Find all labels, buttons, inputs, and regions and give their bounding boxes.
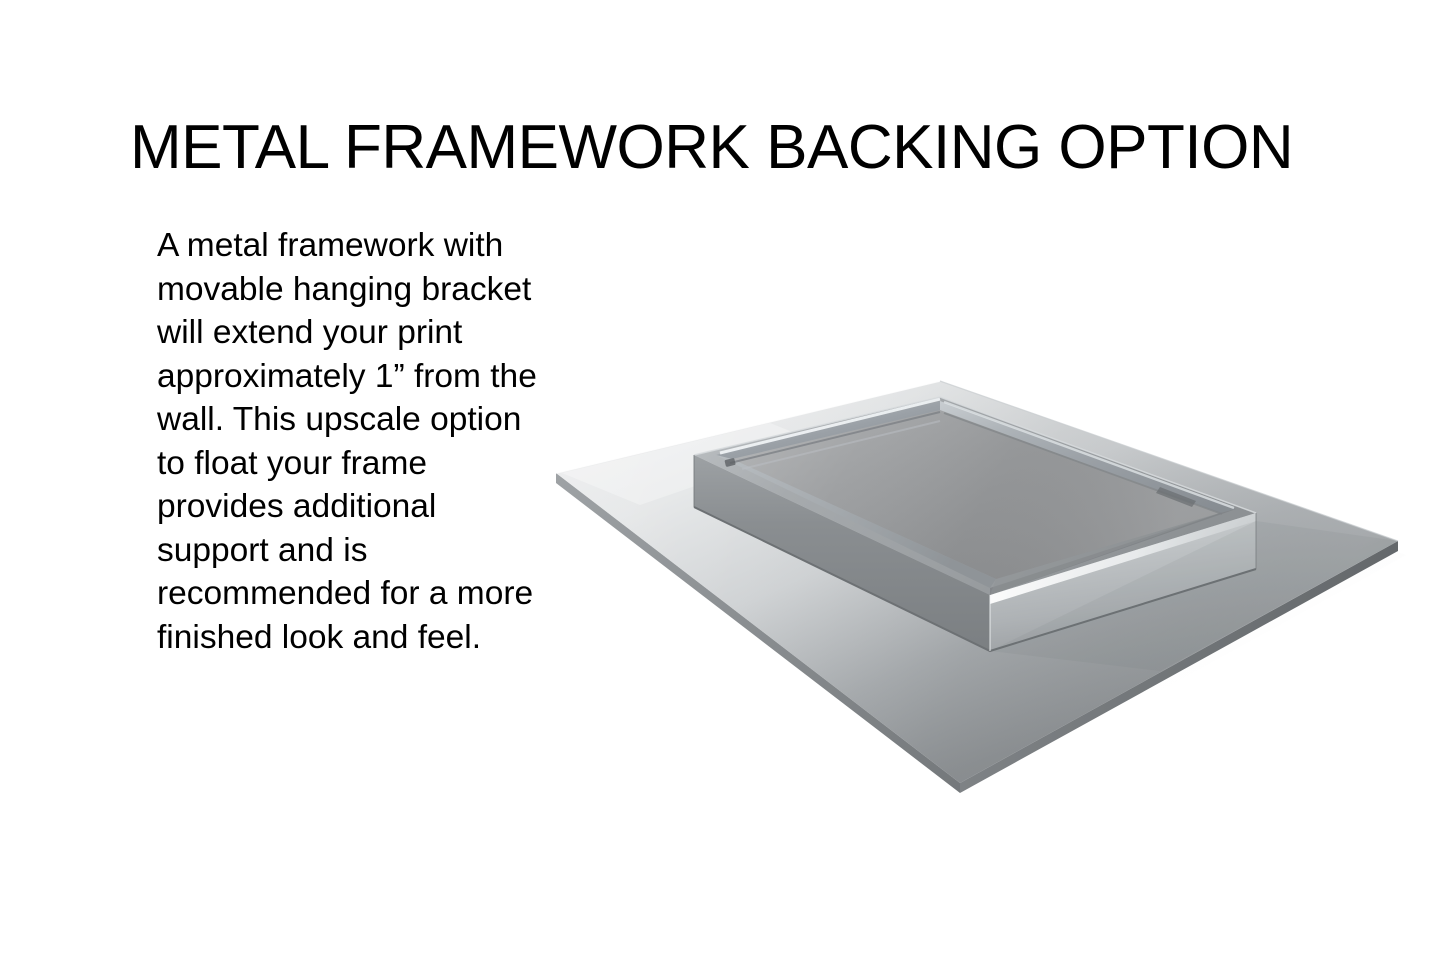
metal-framework-illustration [520,355,1420,815]
body-paragraph: A metal framework with movable hanging b… [157,224,553,659]
page-title: METAL FRAMEWORK BACKING OPTION [130,115,1330,180]
product-photo-metal-framework [520,355,1420,815]
slide-canvas: METAL FRAMEWORK BACKING OPTION A metal f… [0,0,1445,963]
